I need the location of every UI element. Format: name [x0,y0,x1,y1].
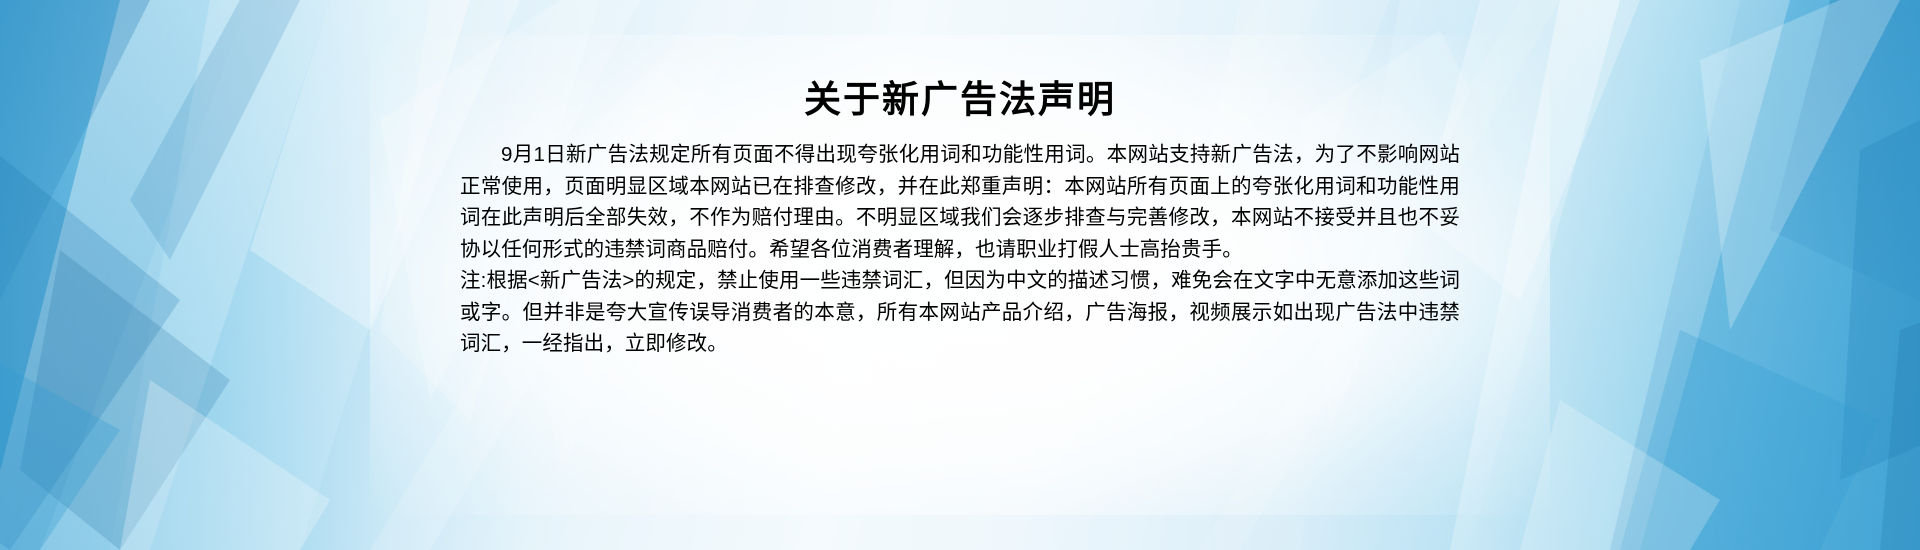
advertising-law-statement-banner: 关于新广告法声明 9月1日新广告法规定所有页面不得出现夸张化用词和功能性用词。本… [0,0,1920,550]
page-title: 关于新广告法声明 [0,78,1920,122]
statement-content: 关于新广告法声明 9月1日新广告法规定所有页面不得出现夸张化用词和功能性用词。本… [0,78,1920,360]
statement-paragraph-main: 9月1日新广告法规定所有页面不得出现夸张化用词和功能性用词。本网站支持新广告法，… [460,139,1460,265]
statement-paragraph-note: 注:根据<新广告法>的规定，禁止使用一些违禁词汇，但因为中文的描述习惯，难免会在… [460,265,1460,360]
statement-body: 9月1日新广告法规定所有页面不得出现夸张化用词和功能性用词。本网站支持新广告法，… [460,139,1460,360]
